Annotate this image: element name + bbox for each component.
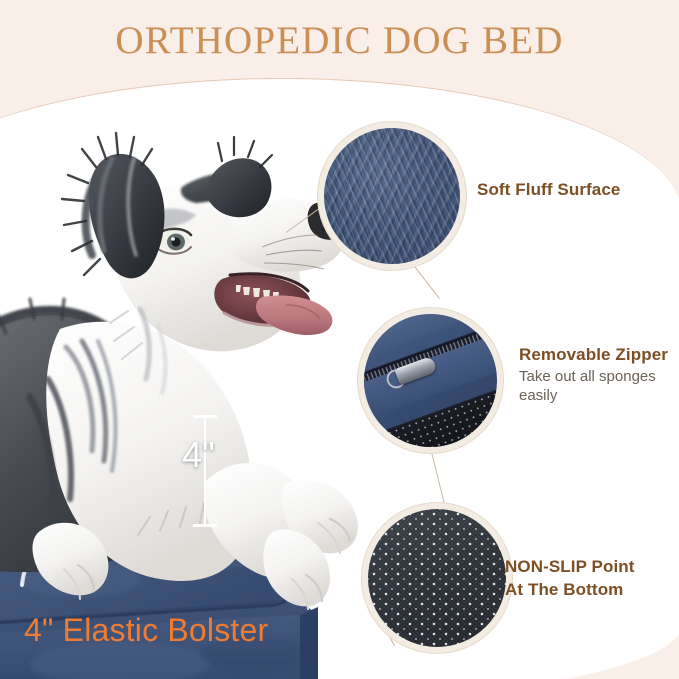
product-infographic: ORTHOPEDIC DOG BED xyxy=(0,0,679,679)
bolster-caption: 4" Elastic Bolster xyxy=(24,612,268,649)
feature-heading: NON-SLIP Point xyxy=(505,557,635,577)
swatch-soft-fluff-surface[interactable] xyxy=(318,122,466,270)
thickness-label: 4" xyxy=(182,434,215,476)
feature-heading-line2: At The Bottom xyxy=(505,580,635,600)
non-slip-texture-swatch xyxy=(368,509,506,647)
swatch-removable-zipper[interactable] xyxy=(358,308,503,453)
feature-soft-fluff-surface: Soft Fluff Surface xyxy=(477,180,620,200)
feature-removable-zipper: Removable Zipper Take out all sponges ea… xyxy=(519,345,679,405)
page-title: ORTHOPEDIC DOG BED xyxy=(0,18,679,63)
zipper-texture-swatch xyxy=(364,314,497,447)
feature-heading: Soft Fluff Surface xyxy=(477,180,620,200)
feature-heading: Removable Zipper xyxy=(519,345,679,365)
swatch-non-slip-bottom[interactable] xyxy=(362,503,512,653)
fluff-texture-swatch xyxy=(324,128,460,264)
feature-non-slip-point: NON-SLIP Point At The Bottom xyxy=(505,557,635,600)
feature-subtext: Take out all sponges easily xyxy=(519,367,679,405)
